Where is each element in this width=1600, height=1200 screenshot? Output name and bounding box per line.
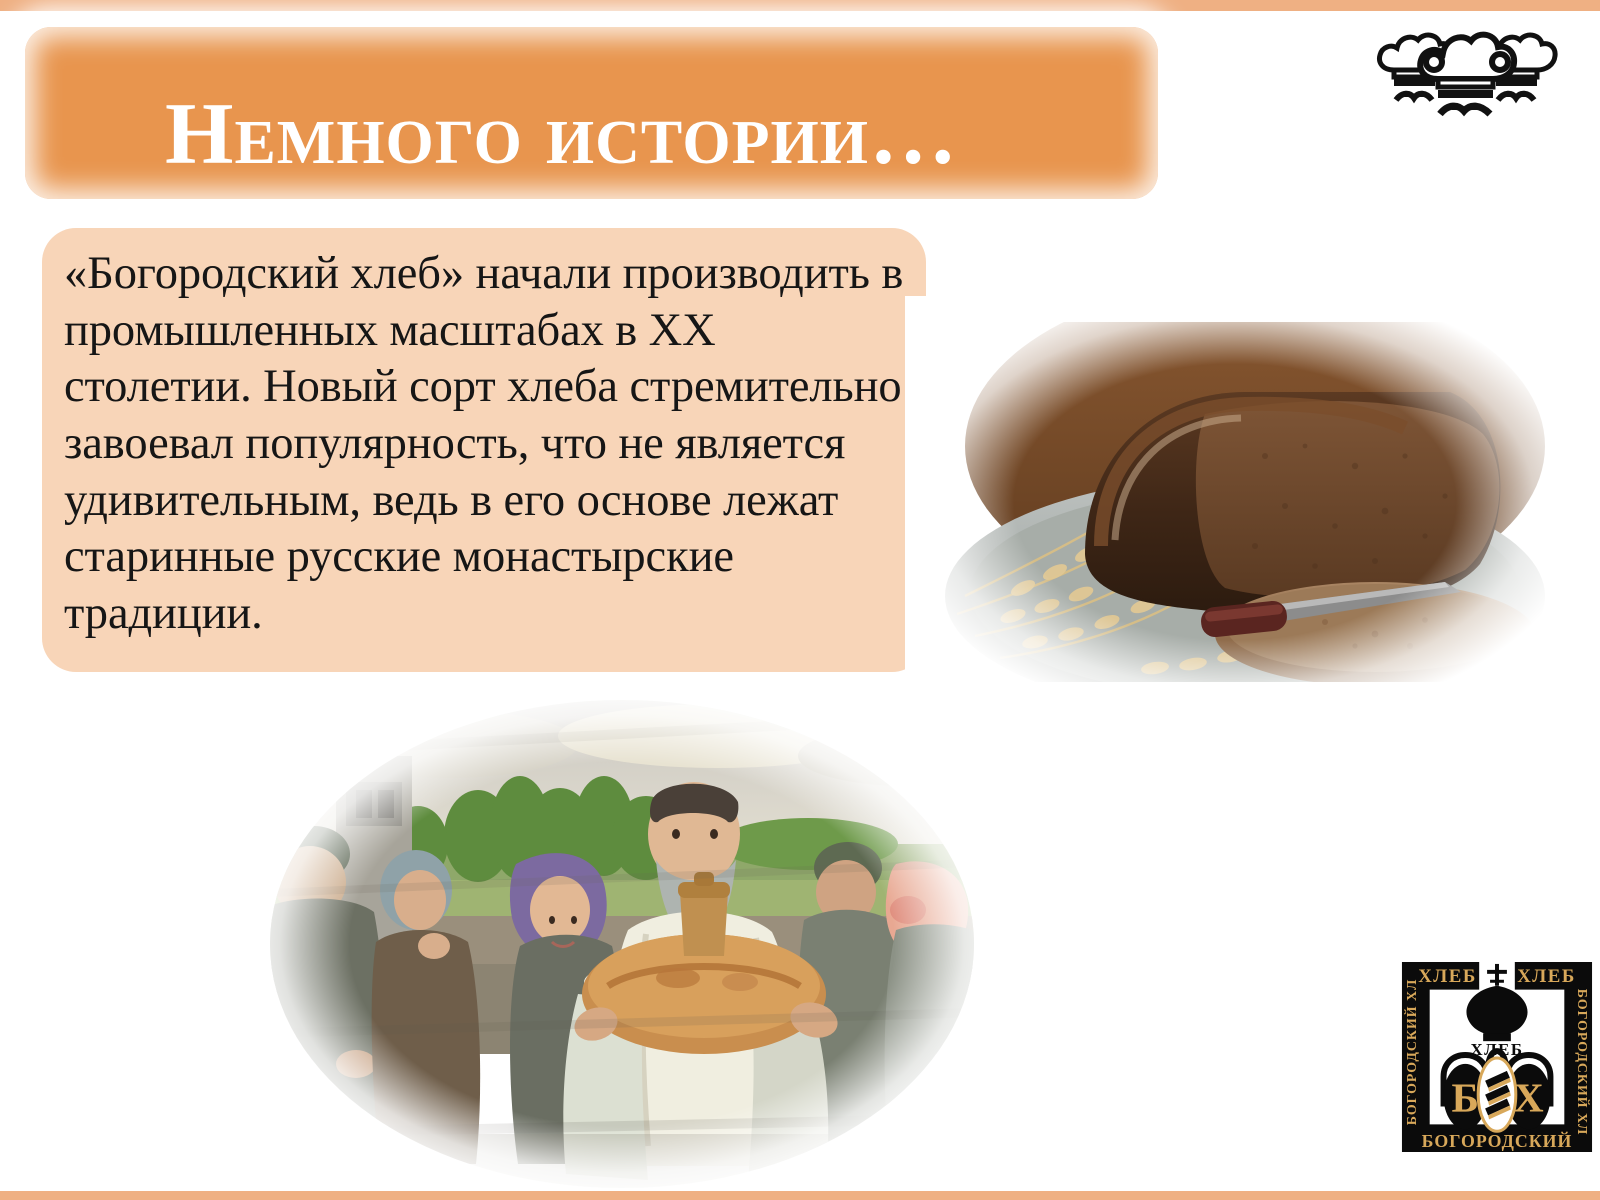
body-text: «Богородский хлеб» начали производить в … [64,246,904,642]
logo-top-left-word: ХЛЕБ [1418,966,1477,987]
bread-photo [905,296,1565,708]
logo-top-right-word: ХЛЕБ [1517,966,1576,987]
brand-logo: ХЛЕБ ХЛЕБ БОГОРОДСКИЙ БОГОРОДСКИЙ ХЛЕБ Б… [1398,958,1596,1156]
title-banner: Немного истории… [25,27,1158,199]
painting-image [248,694,996,1194]
logo-bottom-word: БОГОРОДСКИЙ [1422,1130,1573,1151]
bottom-accent-strip [0,1191,1600,1200]
chef-hats-icon [1372,22,1558,122]
logo-monogram-left: Б [1452,1074,1480,1120]
logo-monogram-right: Х [1514,1074,1544,1120]
top-accent-strip [0,0,1600,11]
page-title: Немного истории… [165,87,1165,182]
